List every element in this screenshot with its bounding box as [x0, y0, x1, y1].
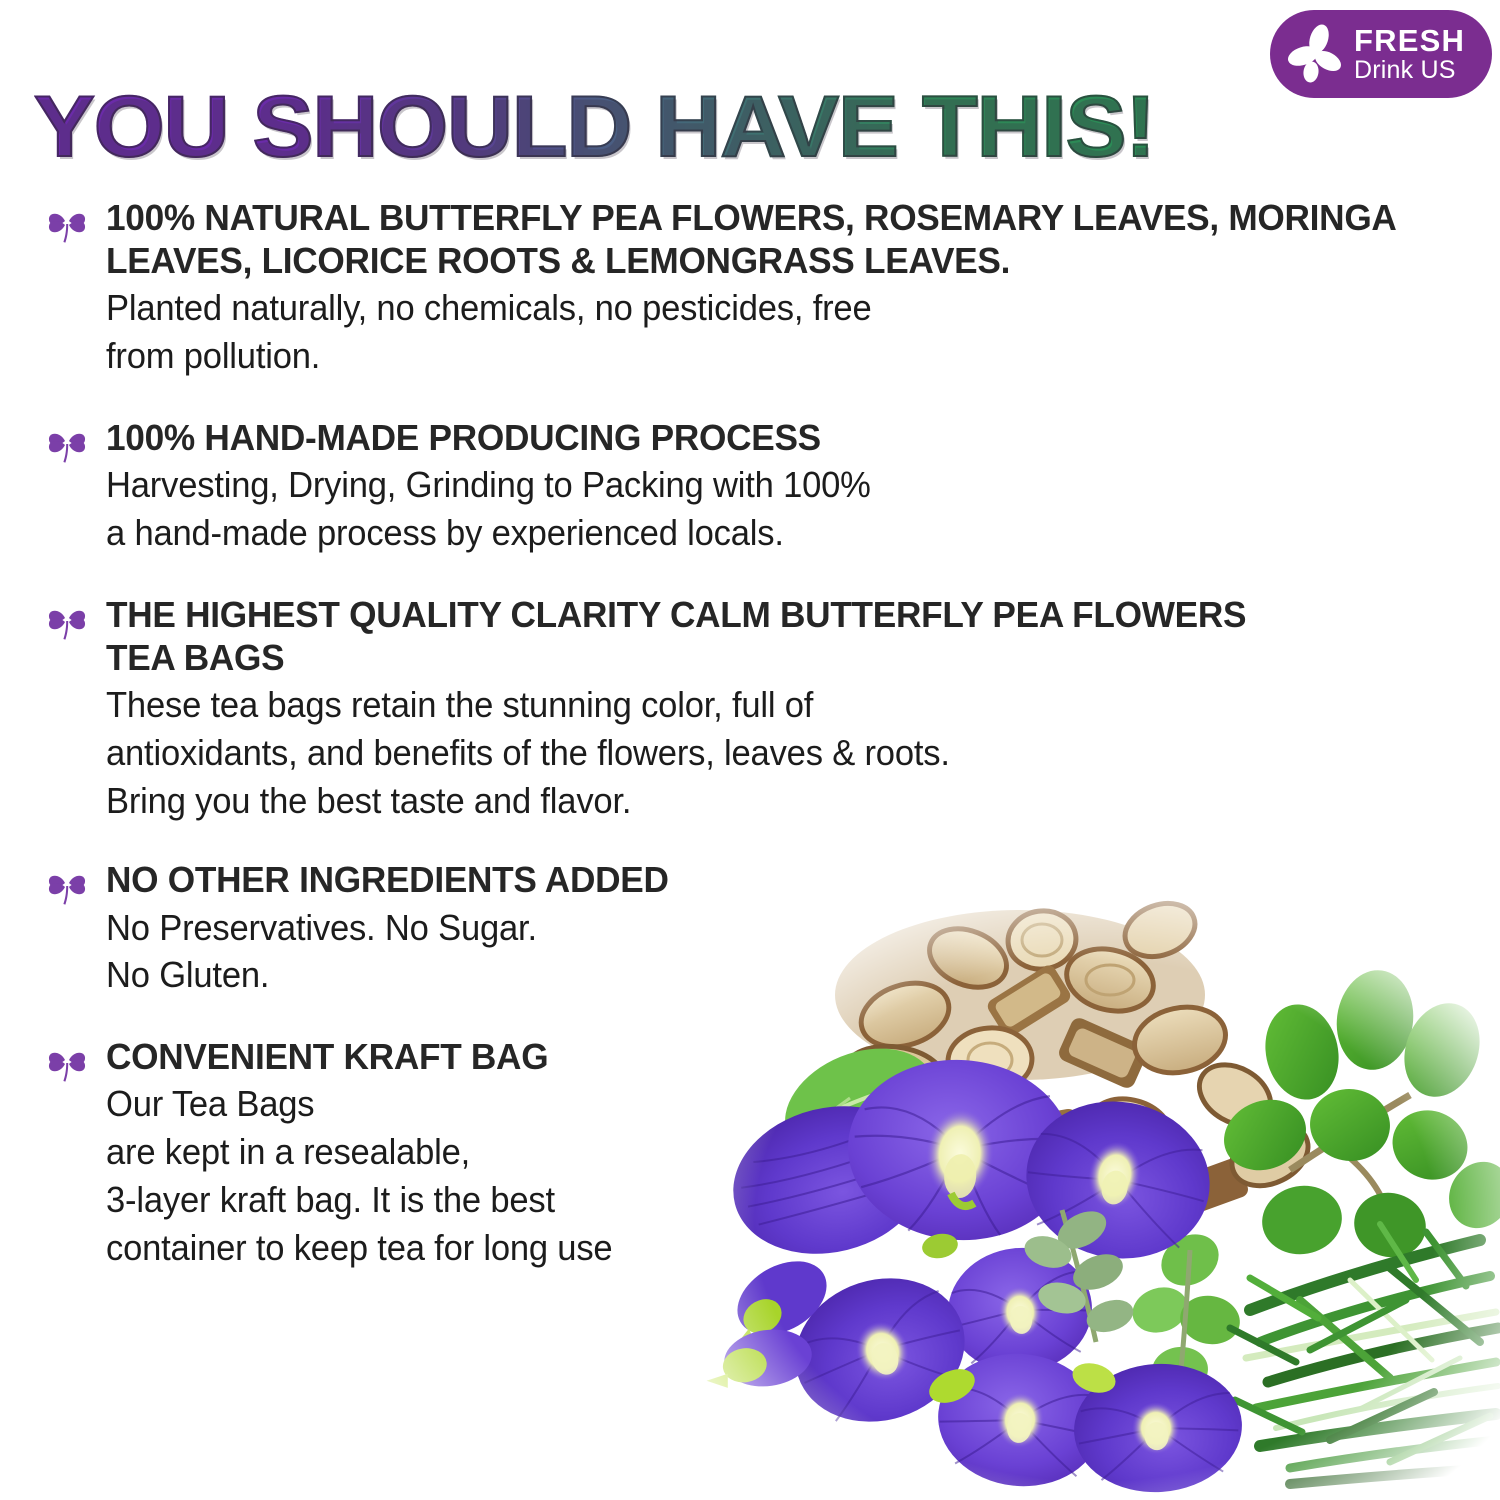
feature-text-line: container to keep tea for long use	[106, 1224, 836, 1272]
feature-text-line: are kept in a resealable,	[106, 1128, 836, 1176]
feature-text: Harvesting, Drying, Grinding to Packing …	[106, 461, 1410, 557]
page-title: YOU SHOULD HAVE THIS!	[34, 84, 1091, 170]
feature-text-line: from pollution.	[106, 332, 1410, 380]
feature-title: 100% HAND-MADE PRODUCING PROCESS	[106, 416, 1416, 459]
feature-text: Planted naturally, no chemicals, no pest…	[106, 284, 1410, 380]
feature-list: 100% NATURAL BUTTERFLY PEA FLOWERS, ROSE…	[44, 196, 1464, 1272]
four-leaf-clover-icon	[44, 599, 90, 645]
brand-name-bottom: Drink US	[1354, 58, 1465, 83]
feature-title: 100% NATURAL BUTTERFLY PEA FLOWERS, ROSE…	[106, 196, 1416, 282]
feature-item: NO OTHER INGREDIENTS ADDED No Preservati…	[44, 858, 1464, 999]
feature-title: NO OTHER INGREDIENTS ADDED	[106, 858, 975, 901]
feature-item: 100% NATURAL BUTTERFLY PEA FLOWERS, ROSE…	[44, 196, 1464, 380]
feature-body: NO OTHER INGREDIENTS ADDED No Preservati…	[106, 858, 1006, 999]
feature-text-line: No Preservatives. No Sugar.	[106, 904, 970, 952]
feature-body: 100% HAND-MADE PRODUCING PROCESS Harvest…	[106, 416, 1464, 557]
feature-item: CONVENIENT KRAFT BAG Our Tea Bags are ke…	[44, 1035, 1464, 1272]
feature-text-line: Bring you the best taste and flavor.	[106, 777, 1258, 825]
feature-text-line: a hand-made process by experienced local…	[106, 509, 1410, 557]
feature-title: THE HIGHEST QUALITY CLARITY CALM BUTTERF…	[106, 593, 1264, 679]
feature-item: 100% HAND-MADE PRODUCING PROCESS Harvest…	[44, 416, 1464, 557]
four-leaf-clover-icon	[44, 864, 90, 910]
feature-text: No Preservatives. No Sugar. No Gluten.	[106, 904, 970, 1000]
brand-logo-badge: FRESH Drink US	[1270, 10, 1492, 98]
feature-text-line: Harvesting, Drying, Grinding to Packing …	[106, 461, 1410, 509]
brand-name-top: FRESH	[1354, 25, 1465, 56]
four-leaf-clover-icon	[44, 422, 90, 468]
feature-text-line: No Gluten.	[106, 951, 970, 999]
headline-text: YOU SHOULD HAVE THIS!	[34, 84, 1155, 170]
feature-text-line: antioxidants, and benefits of the flower…	[106, 729, 1258, 777]
feature-body: CONVENIENT KRAFT BAG Our Tea Bags are ke…	[106, 1035, 866, 1272]
feature-title: CONVENIENT KRAFT BAG	[106, 1035, 839, 1078]
feature-text-line: Our Tea Bags	[106, 1080, 836, 1128]
feature-body: THE HIGHEST QUALITY CLARITY CALM BUTTERF…	[106, 593, 1306, 825]
four-petal-leaf-icon	[1286, 23, 1348, 85]
feature-text-line: Planted naturally, no chemicals, no pest…	[106, 284, 1410, 332]
feature-item: THE HIGHEST QUALITY CLARITY CALM BUTTERF…	[44, 593, 1464, 825]
feature-body: 100% NATURAL BUTTERFLY PEA FLOWERS, ROSE…	[106, 196, 1464, 380]
feature-text: These tea bags retain the stunning color…	[106, 681, 1258, 825]
feature-text-line: 3-layer kraft bag. It is the best	[106, 1176, 836, 1224]
four-leaf-clover-icon	[44, 1041, 90, 1087]
brand-wordmark: FRESH Drink US	[1354, 25, 1465, 83]
feature-text: Our Tea Bags are kept in a resealable, 3…	[106, 1080, 836, 1272]
four-leaf-clover-icon	[44, 202, 90, 248]
feature-text-line: These tea bags retain the stunning color…	[106, 681, 1258, 729]
